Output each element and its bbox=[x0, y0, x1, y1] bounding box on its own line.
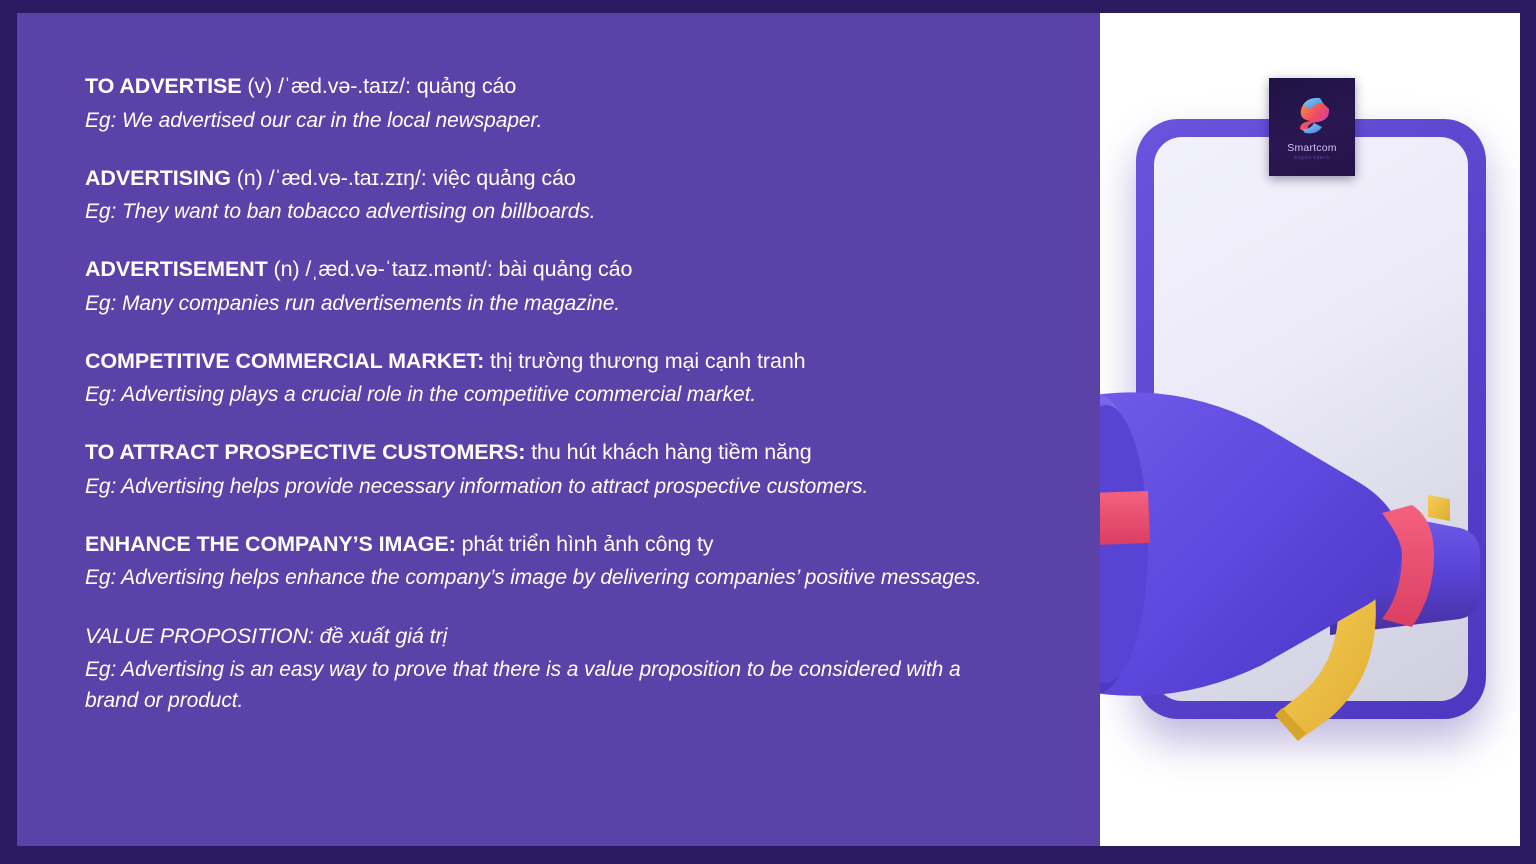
vocabulary-part-of-speech: (v) bbox=[247, 74, 272, 98]
vocabulary-term: COMPETITIVE COMMERCIAL MARKET: bbox=[85, 349, 484, 373]
vocabulary-term: ENHANCE THE COMPANY’S IMAGE: bbox=[85, 532, 456, 556]
vocabulary-term-line: VALUE PROPOSITION: đề xuất giá trị bbox=[85, 621, 1060, 652]
vocabulary-ipa: /ˈæd.və-.taɪ.zɪŋ/: bbox=[269, 166, 427, 190]
vocabulary-entry: COMPETITIVE COMMERCIAL MARKET: thị trườn… bbox=[85, 346, 1060, 411]
vocabulary-term-line: ADVERTISEMENT (n) /ˌæd.və-ˈtaɪz.mənt/: b… bbox=[85, 254, 1060, 285]
vocabulary-example: Eg: Advertising is an easy way to prove … bbox=[85, 654, 1015, 716]
vocabulary-entry: TO ADVERTISE (v) /ˈæd.və-.taɪz/: quảng c… bbox=[85, 71, 1060, 136]
vocabulary-part-of-speech: (n) bbox=[274, 257, 300, 281]
vocabulary-example: Eg: Advertising plays a crucial role in … bbox=[85, 379, 1015, 410]
smartcom-s-ribbon-icon bbox=[1289, 93, 1335, 139]
vocabulary-list: TO ADVERTISE (v) /ˈæd.və-.taɪz/: quảng c… bbox=[85, 71, 1060, 716]
vocabulary-term-line: ENHANCE THE COMPANY’S IMAGE: phát triển … bbox=[85, 529, 1060, 560]
vocabulary-term: TO ATTRACT PROSPECTIVE CUSTOMERS: bbox=[85, 440, 525, 464]
vocabulary-part-of-speech: (n) bbox=[237, 166, 263, 190]
vocabulary-term: ADVERTISING bbox=[85, 166, 231, 190]
vocabulary-example: Eg: Many companies run advertisements in… bbox=[85, 288, 1015, 319]
vocabulary-entry: TO ATTRACT PROSPECTIVE CUSTOMERS: thu hú… bbox=[85, 437, 1060, 502]
vocabulary-entry: VALUE PROPOSITION: đề xuất giá trịEg: Ad… bbox=[85, 621, 1060, 717]
vocabulary-translation: phát triển hình ảnh công ty bbox=[462, 532, 714, 556]
vocabulary-entry: ADVERTISING (n) /ˈæd.və-.taɪ.zɪŋ/: việc … bbox=[85, 163, 1060, 228]
vocabulary-example: Eg: Advertising helps enhance the compan… bbox=[85, 562, 1015, 593]
brand-name: Smartcom bbox=[1287, 143, 1336, 154]
megaphone-3d-icon bbox=[1100, 343, 1500, 763]
brand-logo-badge: Smartcom English Edtech bbox=[1269, 78, 1355, 176]
vocabulary-translation: thị trường thương mại cạnh tranh bbox=[490, 349, 806, 373]
vocabulary-translation: bài quảng cáo bbox=[499, 257, 633, 281]
vocabulary-example: Eg: We advertised our car in the local n… bbox=[85, 105, 1015, 136]
vocabulary-term: ADVERTISEMENT bbox=[85, 257, 268, 281]
vocabulary-ipa: /ˌæd.və-ˈtaɪz.mənt/: bbox=[305, 257, 492, 281]
vocabulary-term-line: ADVERTISING (n) /ˈæd.və-.taɪ.zɪŋ/: việc … bbox=[85, 163, 1060, 194]
brand-tagline: English Edtech bbox=[1294, 156, 1330, 161]
vocabulary-translation: đề xuất giá trị bbox=[320, 624, 448, 648]
content-panel: TO ADVERTISE (v) /ˈæd.və-.taɪz/: quảng c… bbox=[17, 13, 1100, 846]
vocabulary-entry: ADVERTISEMENT (n) /ˌæd.və-ˈtaɪz.mənt/: b… bbox=[85, 254, 1060, 319]
slide-root: TO ADVERTISE (v) /ˈæd.və-.taɪz/: quảng c… bbox=[0, 0, 1536, 864]
vocabulary-term-line: COMPETITIVE COMMERCIAL MARKET: thị trườn… bbox=[85, 346, 1060, 377]
vocabulary-translation: thu hút khách hàng tiềm năng bbox=[531, 440, 812, 464]
vocabulary-term-line: TO ADVERTISE (v) /ˈæd.və-.taɪz/: quảng c… bbox=[85, 71, 1060, 102]
vocabulary-translation: quảng cáo bbox=[417, 74, 517, 98]
vocabulary-example: Eg: Advertising helps provide necessary … bbox=[85, 471, 1015, 502]
vocabulary-example: Eg: They want to ban tobacco advertising… bbox=[85, 196, 1015, 227]
vocabulary-ipa: /ˈæd.və-.taɪz/: bbox=[278, 74, 411, 98]
vocabulary-term: TO ADVERTISE bbox=[85, 74, 242, 98]
vocabulary-translation: việc quảng cáo bbox=[433, 166, 576, 190]
vocabulary-term: VALUE PROPOSITION: bbox=[85, 624, 314, 648]
vocabulary-term-line: TO ATTRACT PROSPECTIVE CUSTOMERS: thu hú… bbox=[85, 437, 1060, 468]
vocabulary-entry: ENHANCE THE COMPANY’S IMAGE: phát triển … bbox=[85, 529, 1060, 594]
